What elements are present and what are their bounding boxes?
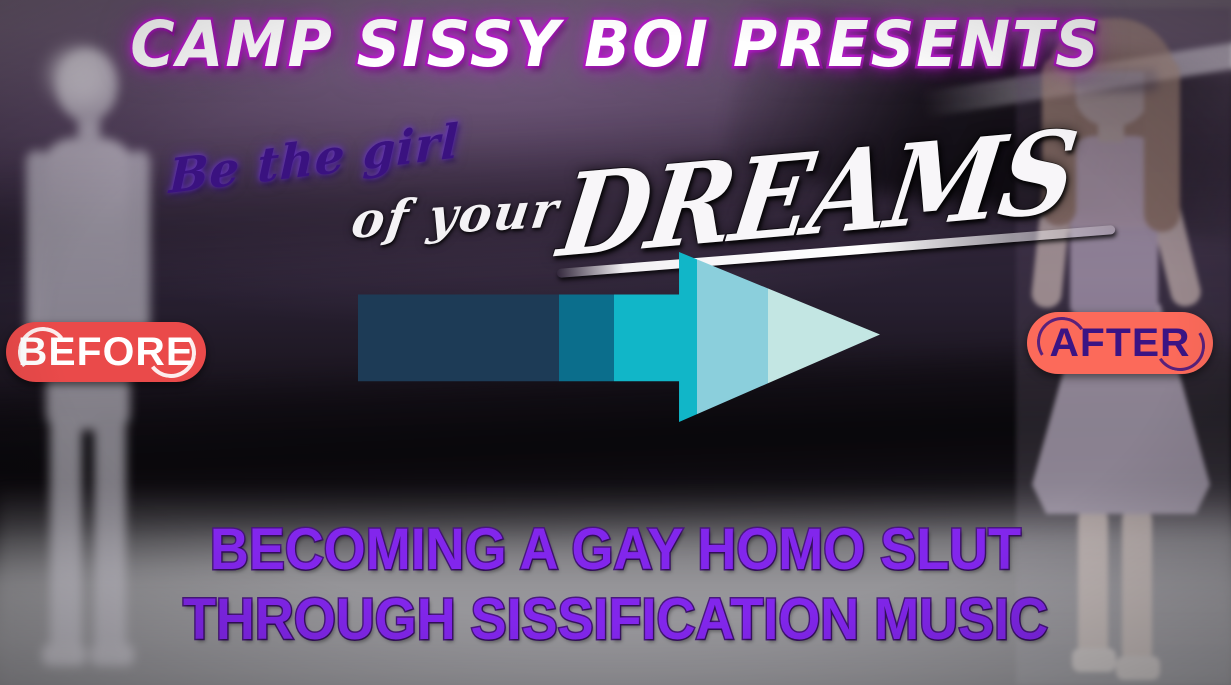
subtitle-line-2: THROUGH SISSIFICATION MUSIC (43, 586, 1188, 653)
arrow-band-3 (614, 252, 698, 422)
arrow-band-2 (559, 252, 614, 422)
page-title: CAMP SISSY BOI PRESENTS (25, 8, 1207, 81)
arrow-band-5 (768, 252, 880, 422)
tagline-of-your: of your (348, 180, 563, 249)
promo-banner: CAMP SISSY BOI PRESENTS Be the girl of y… (0, 0, 1231, 685)
before-badge-label: BEFORE (4, 322, 208, 382)
before-badge: BEFORE (6, 322, 206, 382)
arrow-band-1 (358, 252, 559, 422)
transformation-arrow-right-icon (358, 252, 880, 422)
subtitle-line-1: BECOMING A GAY HOMO SLUT (43, 516, 1188, 583)
arrow-band-4 (697, 252, 767, 422)
after-badge: AFTER (1027, 312, 1213, 374)
after-badge-label: AFTER (1025, 312, 1215, 374)
